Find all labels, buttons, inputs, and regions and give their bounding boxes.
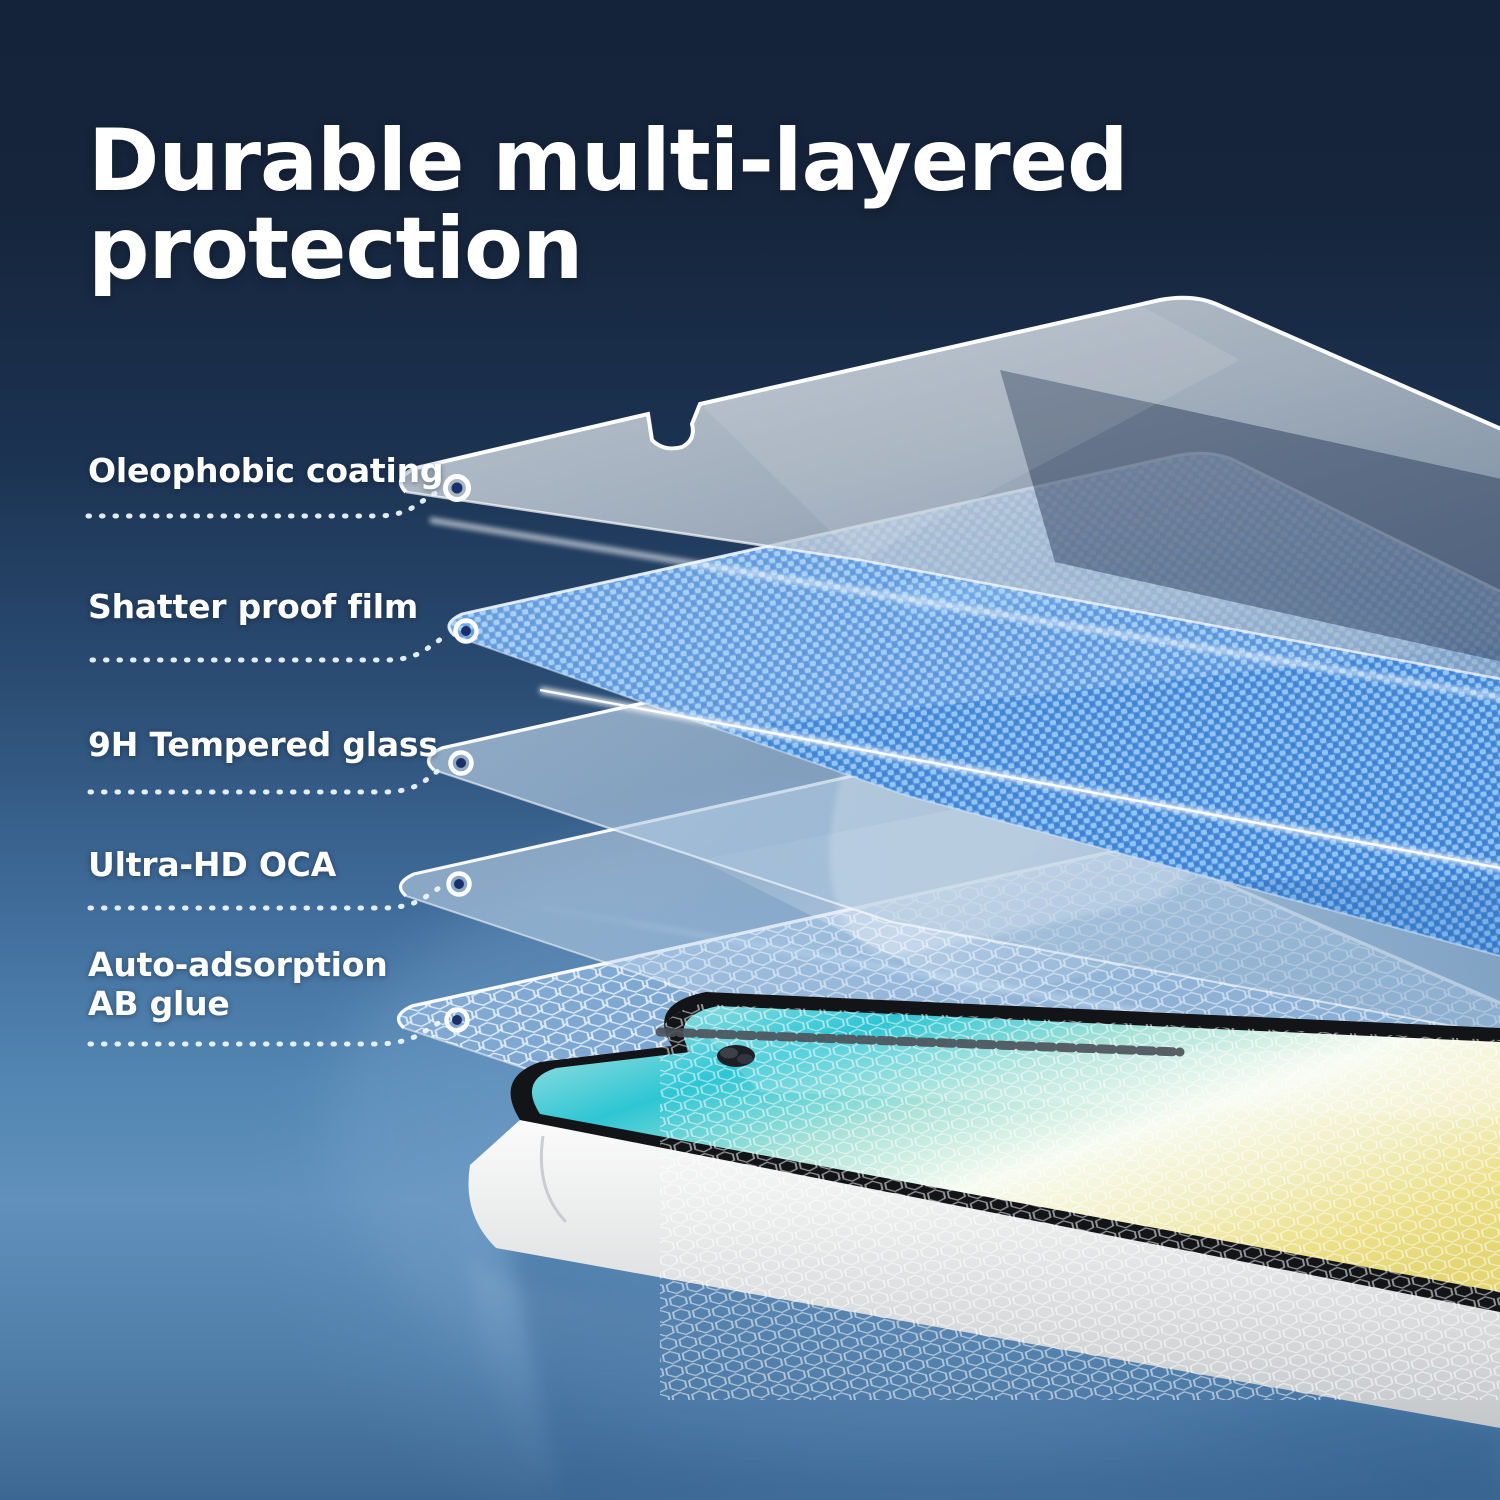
callout-label-ultra-hd-oca: Ultra-HD OCA xyxy=(88,846,336,885)
callout-label-tempered-glass: 9H Tempered glass xyxy=(88,726,438,765)
product-infographic: Durable multi-layered protection Oleopho… xyxy=(0,0,1500,1500)
callout-label-oleophobic-coating: Oleophobic coating xyxy=(88,452,443,491)
callout-label-shatter-proof-film: Shatter proof film xyxy=(88,588,418,627)
callout-label-auto-adsorption-ab-glue: Auto-adsorption AB glue xyxy=(88,946,388,1023)
callout-label-group: Oleophobic coating Shatter proof film 9H… xyxy=(0,0,1500,1500)
